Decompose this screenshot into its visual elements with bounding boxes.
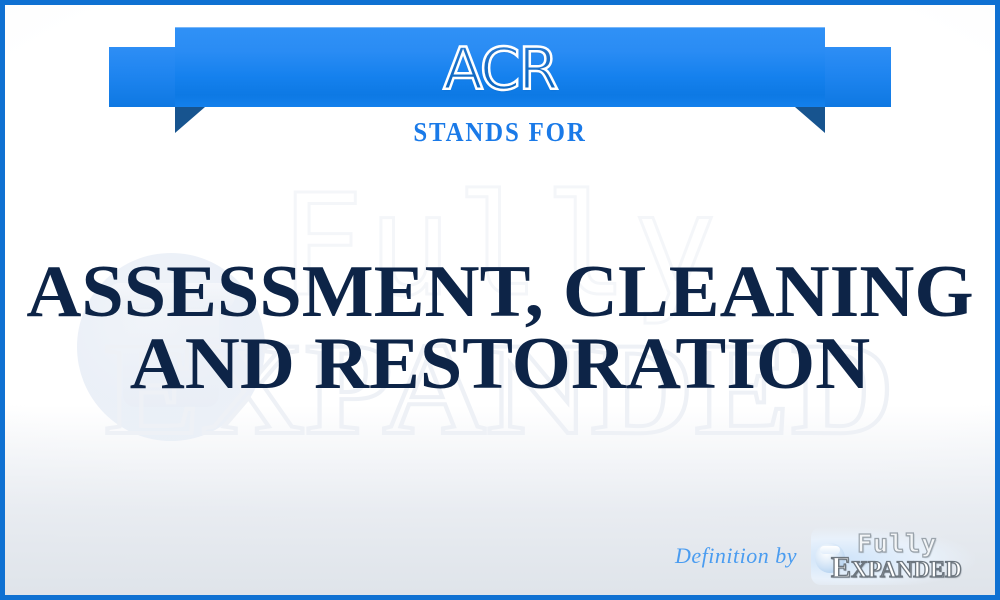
- brand-logo-rest: XPANDED: [851, 557, 962, 582]
- stands-for-label: STANDS FOR: [45, 117, 956, 148]
- footer: Definition by Fully EXPANDED: [675, 531, 973, 581]
- brand-logo-line2: EXPANDED: [831, 551, 962, 585]
- definition-line-2: AND RESTORATION: [21, 329, 979, 401]
- definition-card: Fully EXPANDED ACR STANDS FOR ASSESSMENT…: [0, 0, 1000, 600]
- acronym-text: ACR: [5, 29, 995, 109]
- definition-line-1: ASSESSMENT, CLEANING: [21, 257, 979, 329]
- acronym-ribbon: ACR: [5, 27, 995, 123]
- brand-logo-cap: E: [831, 551, 851, 584]
- credit-label: Definition by: [675, 543, 797, 569]
- brand-logo[interactable]: Fully EXPANDED: [813, 531, 973, 581]
- definition-text: ASSESSMENT, CLEANING AND RESTORATION: [35, 257, 965, 401]
